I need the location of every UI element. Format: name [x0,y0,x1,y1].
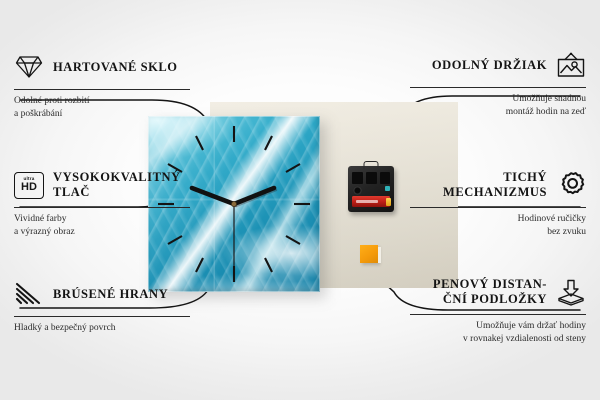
gear-icon [556,170,586,200]
picture-hanger-icon [556,50,586,80]
feature-high-quality-print: ultra HD VYSOKOKVALITNÝ TLAČ Vividné far… [14,168,190,239]
battery-label [356,200,378,203]
feature-divider [14,207,190,208]
feature-divider [410,87,586,88]
feature-title: VYSOKOKVALITNÝ TLAČ [53,170,190,200]
feature-header: ultra HD VYSOKOKVALITNÝ TLAČ [14,168,190,202]
mechanism-adjust-dial [353,186,362,195]
feature-header: TICHÝ MECHANIZMUS [410,168,586,202]
product-infographic: HARTOVANÉ SKLO Odolné proti rozbití a po… [0,0,600,400]
feature-divider [14,89,190,90]
feature-ground-edges: BRÚSENÉ HRANY Hladký a bezpečný povrch [14,277,190,335]
mechanism-slot [352,172,363,184]
feature-description: Vividné farby a výrazný obraz [14,213,190,239]
feature-title: TICHÝ MECHANIZMUS [410,170,547,200]
feature-header: HARTOVANÉ SKLO [14,50,190,84]
foam-pad-arrow-icon [556,277,586,307]
feature-description: Hladký a bezpečný povrch [14,322,190,335]
feature-header: BRÚSENÉ HRANY [14,277,190,311]
ultra-hd-badge-icon: ultra HD [14,170,44,200]
battery-terminal [386,198,391,206]
clock-mechanism [348,166,394,212]
feature-foam-spacers: PENOVÝ DISTAN- ČNÍ PODLOŽKY Umožňuje vám… [410,275,586,346]
feature-title: ODOLNÝ DRŽIAK [432,58,547,73]
feature-description: Odolné proti rozbití a poškrábání [14,95,190,121]
feature-title: BRÚSENÉ HRANY [53,287,168,302]
feature-header: PENOVÝ DISTAN- ČNÍ PODLOŽKY [410,275,586,309]
beveled-edge-icon [14,279,44,309]
feature-title: HARTOVANÉ SKLO [53,60,178,75]
feature-tempered-glass: HARTOVANÉ SKLO Odolné proti rozbití a po… [14,50,190,121]
foam-spacer-pad [360,245,378,263]
feature-durable-hanger: ODOLNÝ DRŽIAK Umožňuje snadnou montáž ho… [410,48,586,119]
feature-header: ODOLNÝ DRŽIAK [410,48,586,82]
ultra-hd-badge-main-label: HD [21,182,37,193]
mechanism-slot [366,172,377,184]
feature-description: Umožňuje vám držať hodiny v rovnakej vzd… [410,320,586,346]
feature-divider [410,314,586,315]
feature-title: PENOVÝ DISTAN- ČNÍ PODLOŽKY [410,277,547,307]
diamond-icon [14,52,44,82]
feature-description: Umožňuje snadnou montáž hodin na zeď [410,93,586,119]
feature-silent-mechanism: TICHÝ MECHANIZMUS Hodinové ručičky bez z… [410,168,586,239]
mechanism-slot [380,172,390,184]
battery [352,196,390,207]
feature-description: Hodinové ručičky bez zvuku [410,213,586,239]
feature-divider [14,316,190,317]
mechanism-hanger-lug [364,161,379,169]
feature-divider [410,207,586,208]
mechanism-marker [385,186,390,191]
